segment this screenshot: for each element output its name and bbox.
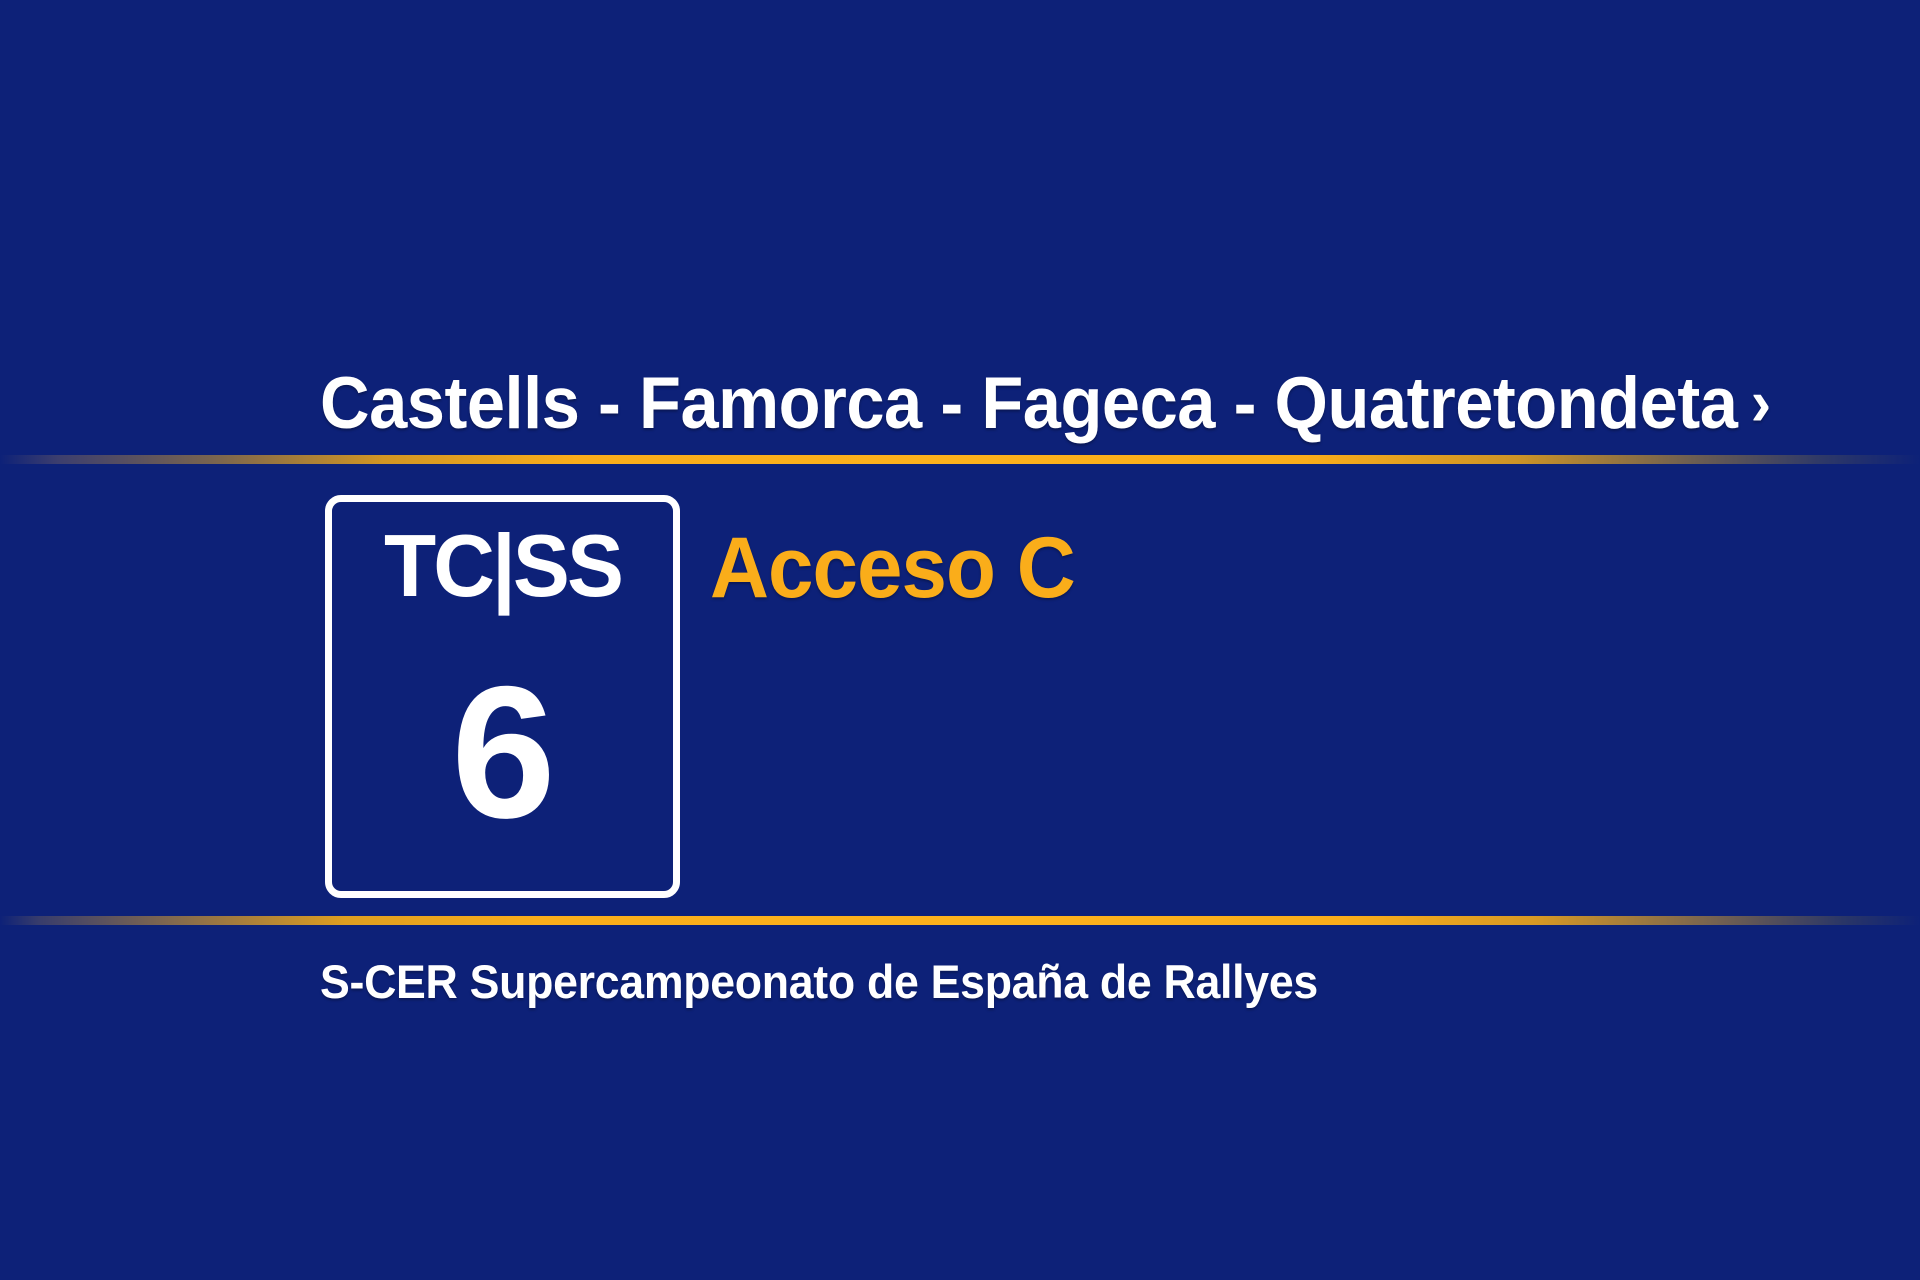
championship-label: S-CER Supercampeonato de España de Rally…: [320, 955, 1318, 1009]
divider-bottom: [0, 916, 1920, 925]
stage-badge-code: TC|SS: [337, 520, 668, 612]
stage-info-panel: Castells - Famorca - Fageca - Quatretond…: [0, 0, 1920, 1280]
chevron-right-icon: ›: [1751, 369, 1771, 435]
stage-badge: TC|SS 6: [325, 495, 680, 898]
access-label: Acceso C: [710, 522, 1075, 614]
route-title-text: Castells - Famorca - Fageca - Quatretond…: [320, 365, 1737, 443]
stage-detail-band: TC|SS 6 Acceso C: [0, 464, 1920, 916]
divider-top: [0, 455, 1920, 464]
route-title: Castells - Famorca - Fageca - Quatretond…: [320, 364, 1749, 444]
stage-badge-number: 6: [332, 654, 673, 850]
